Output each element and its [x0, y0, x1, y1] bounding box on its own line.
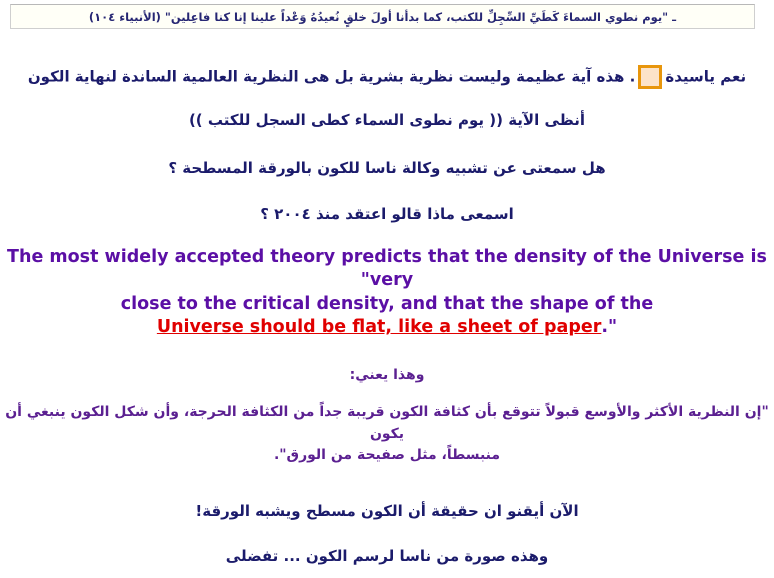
quran-verse-text: ـ "يوم نطوي السماءَ كَطَيِّ السِّجِلِّ ل… [89, 10, 676, 24]
english-quote-line-3: ".Universe should be flat, like a sheet … [0, 316, 774, 339]
arabic-translation-block: "إن النظرية الأكثر والأوسع قبولاً تتوقع … [0, 402, 774, 467]
english-quote-line-1-text: The most widely accepted theory predicts… [7, 247, 767, 290]
line-5-text: الآن أيقنو ان حقيقة أن الكون مسطح ويشبه … [195, 502, 578, 520]
paragraph-line-1: نعم ياسيدة. هذه آية عظيمة وليست نظرية بش… [0, 64, 774, 89]
english-quote-line-2: close to the critical density, and that … [0, 293, 774, 316]
paragraph-line-4: اسمعى ماذا قالو اعتقد منذ ٢٠٠٤ ؟ [0, 202, 774, 226]
line-6-text: وهذه صورة من ناسا لرسم الكون ... تفضلى [226, 547, 548, 565]
broken-image-icon[interactable] [638, 65, 662, 89]
meaning-label-text: وهذا يعني: [350, 367, 425, 383]
line-1-trailing-text: . هذه آية عظيمة وليست نظرية بشرية بل هى … [28, 67, 636, 85]
paragraph-line-3: هل سمعتى عن تشبيه وكالة ناسا للكون بالور… [0, 156, 774, 180]
english-quote-line-3-highlighted-text: Universe should be flat, like a sheet of… [157, 317, 602, 337]
line-1-leading-text: نعم ياسيدة [665, 67, 746, 85]
line-2-text: أنظى الآية (( يوم نطوى السماء كطى السجل … [189, 111, 585, 129]
meaning-label-row: وهذا يعني: [0, 362, 774, 386]
english-quote-line-2-text: close to the critical density, and that … [121, 294, 653, 314]
arabic-translation-line-1: "إن النظرية الأكثر والأوسع قبولاً تتوقع … [0, 402, 774, 445]
paragraph-line-6: وهذه صورة من ناسا لرسم الكون ... تفضلى [0, 544, 774, 568]
english-quote-line-1: The most widely accepted theory predicts… [0, 246, 774, 293]
forum-post-page: ـ "يوم نطوي السماءَ كَطَيِّ السِّجِلِّ ل… [0, 0, 774, 578]
paragraph-line-5: الآن أيقنو ان حقيقة أن الكون مسطح ويشبه … [0, 499, 774, 523]
quran-verse-banner: ـ "يوم نطوي السماءَ كَطَيِّ السِّجِلِّ ل… [10, 4, 755, 29]
paragraph-line-2: أنظى الآية (( يوم نطوى السماء كطى السجل … [0, 108, 774, 132]
english-quote-block: The most widely accepted theory predicts… [0, 246, 774, 339]
line-4-text: اسمعى ماذا قالو اعتقد منذ ٢٠٠٤ ؟ [260, 205, 514, 223]
english-quote-open-mark: " [361, 270, 370, 290]
line-3-text: هل سمعتى عن تشبيه وكالة ناسا للكون بالور… [168, 159, 605, 177]
arabic-translation-line-2: منبسطاً، مثل صفيحة من الورق". [0, 445, 774, 467]
english-quote-close-mark: ". [601, 317, 617, 337]
